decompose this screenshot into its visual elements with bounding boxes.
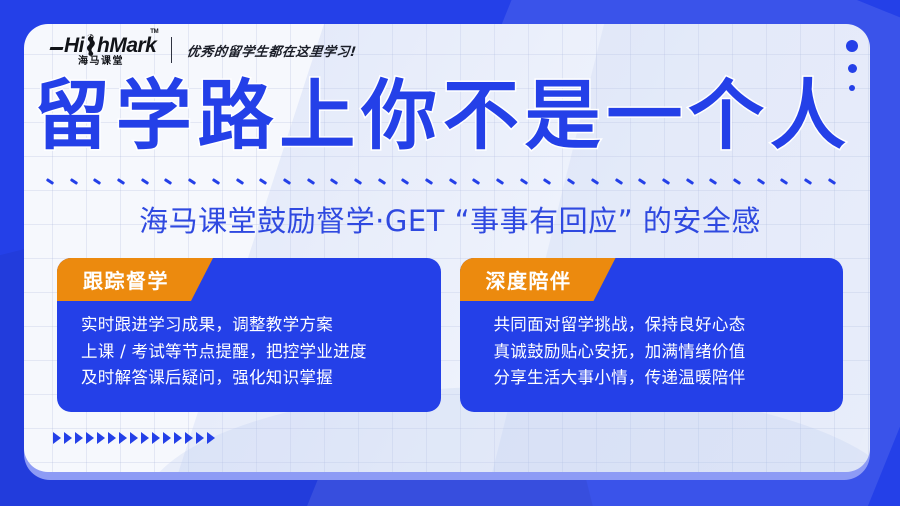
- dot-medium-icon: [848, 64, 857, 73]
- seahorse-icon: [84, 33, 97, 57]
- feature-card-tracking: 跟踪督学 实时跟进学习成果，调整教学方案 上课 / 考试等节点提醒，把控学业进度…: [57, 258, 441, 412]
- dot-large-icon: [846, 40, 858, 52]
- chevron-arrow-row: [53, 432, 215, 444]
- headline-char: 留: [34, 78, 110, 154]
- subtitle: 海马课堂鼓励督学·GET “事事有回应” 的安全感: [0, 198, 900, 240]
- logo-text-hi: Hi: [64, 35, 84, 56]
- card-ribbon-companionship: 深度陪伴: [460, 258, 616, 301]
- logo-chinese-name: 海马课堂: [78, 57, 124, 67]
- header-divider: [171, 37, 172, 63]
- headline-char: 你: [361, 78, 437, 154]
- card-line: 真诚鼓励贴心安抚，加满情绪价值: [494, 339, 844, 366]
- card-ribbon-tracking: 跟踪督学: [57, 258, 213, 301]
- feature-cards: 跟踪督学 实时跟进学习成果，调整教学方案 上课 / 考试等节点提醒，把控学业进度…: [57, 258, 843, 412]
- headline-char: 路: [198, 78, 274, 154]
- logo-dash-icon: [50, 47, 64, 50]
- card-body-companionship: 共同面对留学挑战，保持良好心态 真诚鼓励贴心安抚，加满情绪价值 分享生活大事小情…: [460, 312, 844, 392]
- promotional-banner: Hi hMark TM 海马课堂 优秀的留学生都在这里学习! 留 学 路 上 你…: [0, 0, 900, 506]
- side-dot-decoration: [846, 40, 858, 91]
- headline-char: 学: [116, 78, 192, 154]
- brand-tagline: 优秀的留学生都在这里学习!: [186, 41, 358, 60]
- card-line: 实时跟进学习成果，调整教学方案: [81, 312, 441, 339]
- card-ribbon-label: 深度陪伴: [486, 265, 572, 294]
- card-line: 上课 / 考试等节点提醒，把控学业进度: [81, 339, 441, 366]
- dot-small-icon: [849, 85, 855, 91]
- card-ribbon-label: 跟踪督学: [83, 265, 169, 294]
- brand-header: Hi hMark TM 海马课堂 优秀的留学生都在这里学习!: [50, 33, 357, 67]
- trademark-icon: TM: [150, 29, 158, 35]
- card-body-tracking: 实时跟进学习成果，调整教学方案 上课 / 考试等节点提醒，把控学业进度 及时解答…: [57, 312, 441, 392]
- headline-char: 上: [279, 78, 355, 154]
- headline-char: 不: [443, 78, 519, 154]
- card-line: 共同面对留学挑战，保持良好心态: [494, 312, 844, 339]
- headline-char: 一: [606, 78, 682, 154]
- headline-char: 人: [770, 78, 846, 154]
- logo-wordmark: Hi hMark TM: [50, 33, 156, 56]
- headline-char: 是: [525, 78, 601, 154]
- logo-text-mark: hMark: [97, 35, 156, 56]
- feature-card-companionship: 深度陪伴 共同面对留学挑战，保持良好心态 真诚鼓励贴心安抚，加满情绪价值 分享生…: [460, 258, 844, 412]
- card-line: 分享生活大事小情，传递温暖陪伴: [494, 365, 844, 392]
- card-line: 及时解答课后疑问，强化知识掌握: [81, 365, 441, 392]
- logo: Hi hMark TM 海马课堂: [50, 33, 156, 67]
- headline: 留 学 路 上 你 不 是 一 个 人: [34, 78, 846, 154]
- headline-char: 个: [688, 78, 764, 154]
- dashed-divider: [46, 175, 836, 187]
